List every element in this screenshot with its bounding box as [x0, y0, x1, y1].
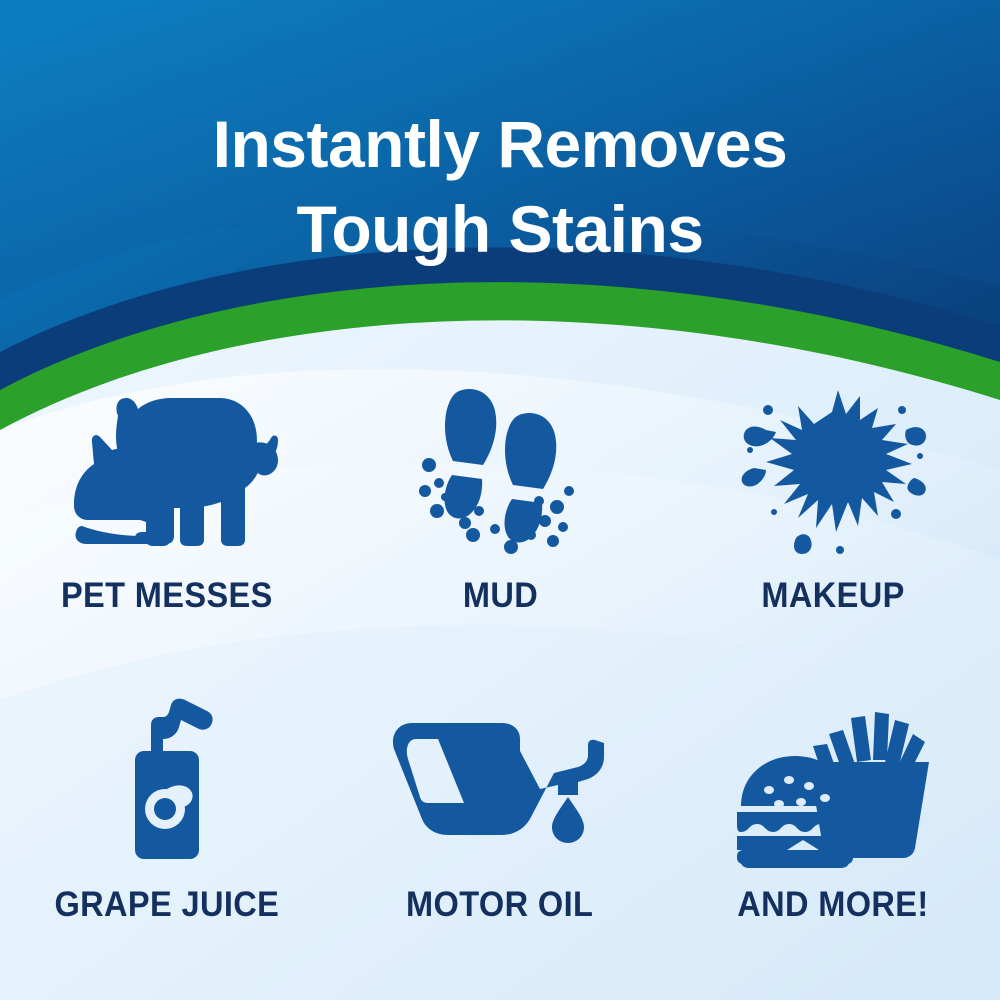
- stain-label-and-more: AND MORE!: [738, 885, 929, 925]
- paint-splatter-icon: [736, 378, 931, 568]
- grid-item-mud: MUD: [333, 378, 666, 678]
- grid-item-motor-oil: MOTOR OIL: [333, 678, 666, 978]
- juice-box-icon: [107, 686, 227, 871]
- paint-splatter-icon-svg: [736, 386, 931, 561]
- muddy-footprints-icon-svg: [407, 383, 592, 563]
- pet-dog-cat-icon: [52, 378, 282, 568]
- burger-fries-icon: [733, 686, 933, 871]
- headline-line-2: Tough Stains: [0, 187, 1000, 271]
- juice-box-icon-svg: [107, 691, 227, 866]
- stain-types-grid: PET MESSES: [0, 378, 1000, 978]
- stain-label-makeup: MAKEUP: [762, 576, 905, 616]
- pet-dog-cat-icon-svg: [52, 386, 282, 561]
- burger-fries-icon-svg: [733, 690, 933, 868]
- page-title: Instantly Removes Tough Stains: [0, 102, 1000, 271]
- stain-label-pet-messes: PET MESSES: [61, 576, 273, 616]
- grid-item-pet-messes: PET MESSES: [0, 378, 333, 678]
- stain-label-motor-oil: MOTOR OIL: [406, 885, 593, 925]
- oil-can-icon-svg: [382, 711, 617, 846]
- oil-can-icon: [382, 686, 617, 871]
- stain-label-mud: MUD: [462, 576, 537, 616]
- product-infographic: Instantly Removes Tough Stains: [0, 0, 1000, 1000]
- grid-item-and-more: AND MORE!: [667, 678, 1000, 978]
- stain-label-grape-juice: GRAPE JUICE: [54, 885, 279, 925]
- muddy-footprints-icon: [407, 378, 592, 568]
- headline-line-1: Instantly Removes: [0, 102, 1000, 186]
- grid-item-makeup: MAKEUP: [667, 378, 1000, 678]
- grid-item-grape-juice: GRAPE JUICE: [0, 678, 333, 978]
